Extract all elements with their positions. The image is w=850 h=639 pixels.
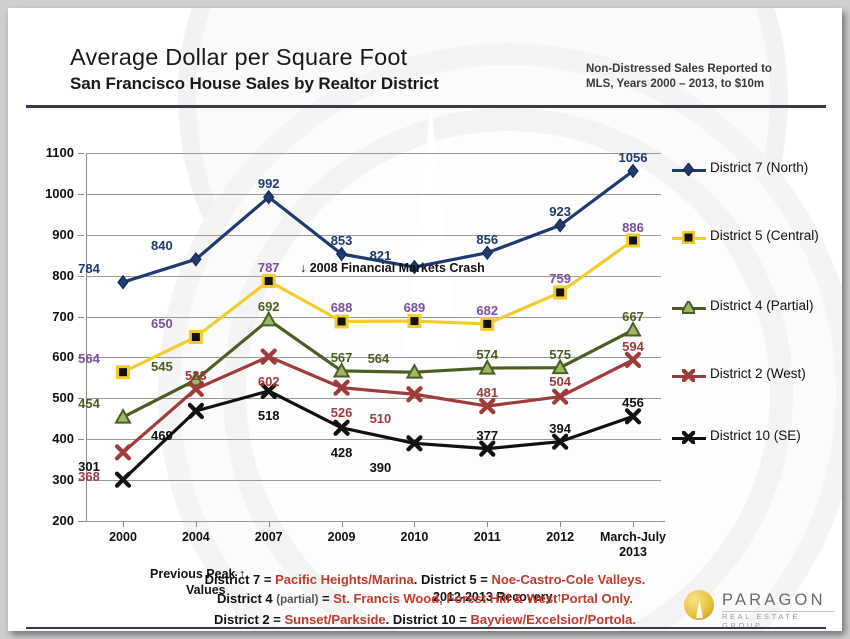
legend-marker-square-icon bbox=[682, 231, 695, 244]
chart-header: Average Dollar per Square Foot San Franc… bbox=[8, 8, 842, 100]
data-point-square-marker bbox=[628, 235, 639, 246]
data-point-label: 428 bbox=[314, 445, 370, 460]
data-point-cross-marker bbox=[683, 370, 695, 382]
legend-marker-triangle-icon bbox=[682, 301, 695, 314]
data-point-square-marker bbox=[482, 318, 493, 329]
data-point-square-marker bbox=[336, 316, 347, 327]
data-point-label: 853 bbox=[314, 233, 370, 248]
data-point-cross-marker bbox=[117, 446, 129, 458]
data-point-triangle-marker bbox=[262, 313, 276, 326]
paragon-logo: PARAGON REAL ESTATE GROUP bbox=[684, 586, 836, 624]
data-point-square-marker bbox=[683, 232, 694, 243]
legend-marker-cross-icon bbox=[682, 431, 695, 444]
data-point-cross-marker bbox=[683, 432, 695, 444]
legend-label: District 5 (Central) bbox=[710, 228, 819, 243]
legend-label: District 4 (Partial) bbox=[710, 298, 814, 313]
data-point-cross-marker bbox=[117, 474, 129, 486]
data-point-triangle-marker bbox=[626, 323, 640, 336]
data-point-label: 784 bbox=[61, 261, 117, 276]
footer-l1-c: . District 5 = bbox=[414, 572, 492, 587]
data-point-label: 469 bbox=[134, 428, 190, 443]
legend-marker-diamond-icon bbox=[682, 163, 695, 176]
footer-l2-b: = bbox=[318, 591, 333, 606]
data-point-diamond-marker bbox=[482, 246, 492, 259]
legend-label: District 2 (West) bbox=[710, 366, 806, 381]
data-point-square-marker bbox=[409, 316, 420, 327]
data-point-square-marker bbox=[118, 367, 129, 378]
data-point-label: 787 bbox=[241, 260, 297, 275]
data-point-label: 456 bbox=[605, 395, 661, 410]
data-point-label: 481 bbox=[459, 385, 515, 400]
logo-circle-icon bbox=[684, 590, 714, 620]
chart-legend: District 7 (North)District 5 (Central)Di… bbox=[668, 108, 842, 438]
data-point-label: 390 bbox=[352, 460, 408, 475]
data-point-label: 689 bbox=[386, 300, 442, 315]
data-point-label: 510 bbox=[352, 411, 408, 426]
slide-canvas: Average Dollar per Square Foot San Franc… bbox=[8, 8, 842, 631]
source-note-line-1: Non-Distressed Sales Reported to bbox=[586, 62, 772, 77]
logo-wordmark: PARAGON bbox=[722, 591, 826, 610]
data-point-label: 886 bbox=[605, 220, 661, 235]
data-point-label: 394 bbox=[532, 421, 588, 436]
legend-label: District 10 (SE) bbox=[710, 428, 801, 443]
footer-l1-a: District 7 = bbox=[205, 572, 275, 587]
footer-l3-a: District 2 = bbox=[214, 612, 284, 627]
data-point-label: 667 bbox=[605, 309, 661, 324]
data-point-diamond-marker bbox=[118, 276, 128, 289]
data-point-square-marker bbox=[190, 332, 201, 343]
data-point-label: 523 bbox=[168, 368, 224, 383]
data-point-label: 574 bbox=[459, 347, 515, 362]
legend-label: District 7 (North) bbox=[710, 160, 808, 175]
source-note-line-2: MLS, Years 2000 – 2013, to $10m bbox=[586, 77, 772, 92]
data-point-label: 682 bbox=[459, 303, 515, 318]
data-point-label: 504 bbox=[532, 374, 588, 389]
data-point-label: 575 bbox=[532, 347, 588, 362]
data-point-diamond-marker bbox=[683, 163, 693, 176]
data-point-label: 759 bbox=[532, 271, 588, 286]
data-point-label: 564 bbox=[350, 351, 406, 366]
data-point-label: 856 bbox=[459, 232, 515, 247]
source-note: Non-Distressed Sales Reported to MLS, Ye… bbox=[586, 62, 772, 92]
data-point-cross-marker bbox=[263, 351, 275, 363]
page-title: Average Dollar per Square Foot bbox=[70, 44, 407, 71]
data-point-label: 688 bbox=[314, 300, 370, 315]
footer-l1-d: Noe-Castro-Cole Valleys. bbox=[491, 572, 645, 587]
data-point-triangle-marker bbox=[682, 301, 695, 313]
legend-marker-cross-icon bbox=[682, 369, 695, 382]
data-point-label: 301 bbox=[61, 459, 117, 474]
data-point-label: 923 bbox=[532, 204, 588, 219]
data-point-cross-marker bbox=[627, 354, 639, 366]
annotation-crash: ↓ 2008 Financial Markets Crash bbox=[300, 260, 485, 276]
data-point-label: 840 bbox=[134, 238, 190, 253]
footer-l1-b: Pacific Heights/Marina bbox=[275, 572, 414, 587]
data-point-square-marker bbox=[263, 275, 274, 286]
footer-divider bbox=[26, 627, 826, 629]
page-subtitle: San Francisco House Sales by Realtor Dis… bbox=[70, 74, 439, 94]
data-point-label: 692 bbox=[241, 299, 297, 314]
footer-l2-small: (partial) bbox=[276, 594, 318, 606]
data-point-label: 454 bbox=[61, 396, 117, 411]
data-point-label: 564 bbox=[61, 351, 117, 366]
x-axis-label-line: 2013 bbox=[591, 545, 675, 560]
data-point-square-marker bbox=[555, 287, 566, 298]
footer-l2-c: St. Francis Wood, Forest Hill & West Por… bbox=[333, 591, 633, 606]
footer-l3-c: . District 10 = bbox=[386, 612, 471, 627]
data-point-label: 594 bbox=[605, 339, 661, 354]
logo-flame-icon bbox=[696, 600, 703, 618]
data-point-label: 377 bbox=[459, 428, 515, 443]
data-point-label: 602 bbox=[241, 374, 297, 389]
data-point-label: 992 bbox=[241, 176, 297, 191]
data-point-label: 1056 bbox=[605, 150, 661, 165]
footer-l3-b: Sunset/Parkside bbox=[284, 612, 385, 627]
data-point-label: 518 bbox=[241, 408, 297, 423]
footer-l3-d: Bayview/Excelsior/Portola. bbox=[471, 612, 636, 627]
footer-l2-a: District 4 bbox=[217, 591, 276, 606]
data-point-label: 650 bbox=[134, 316, 190, 331]
